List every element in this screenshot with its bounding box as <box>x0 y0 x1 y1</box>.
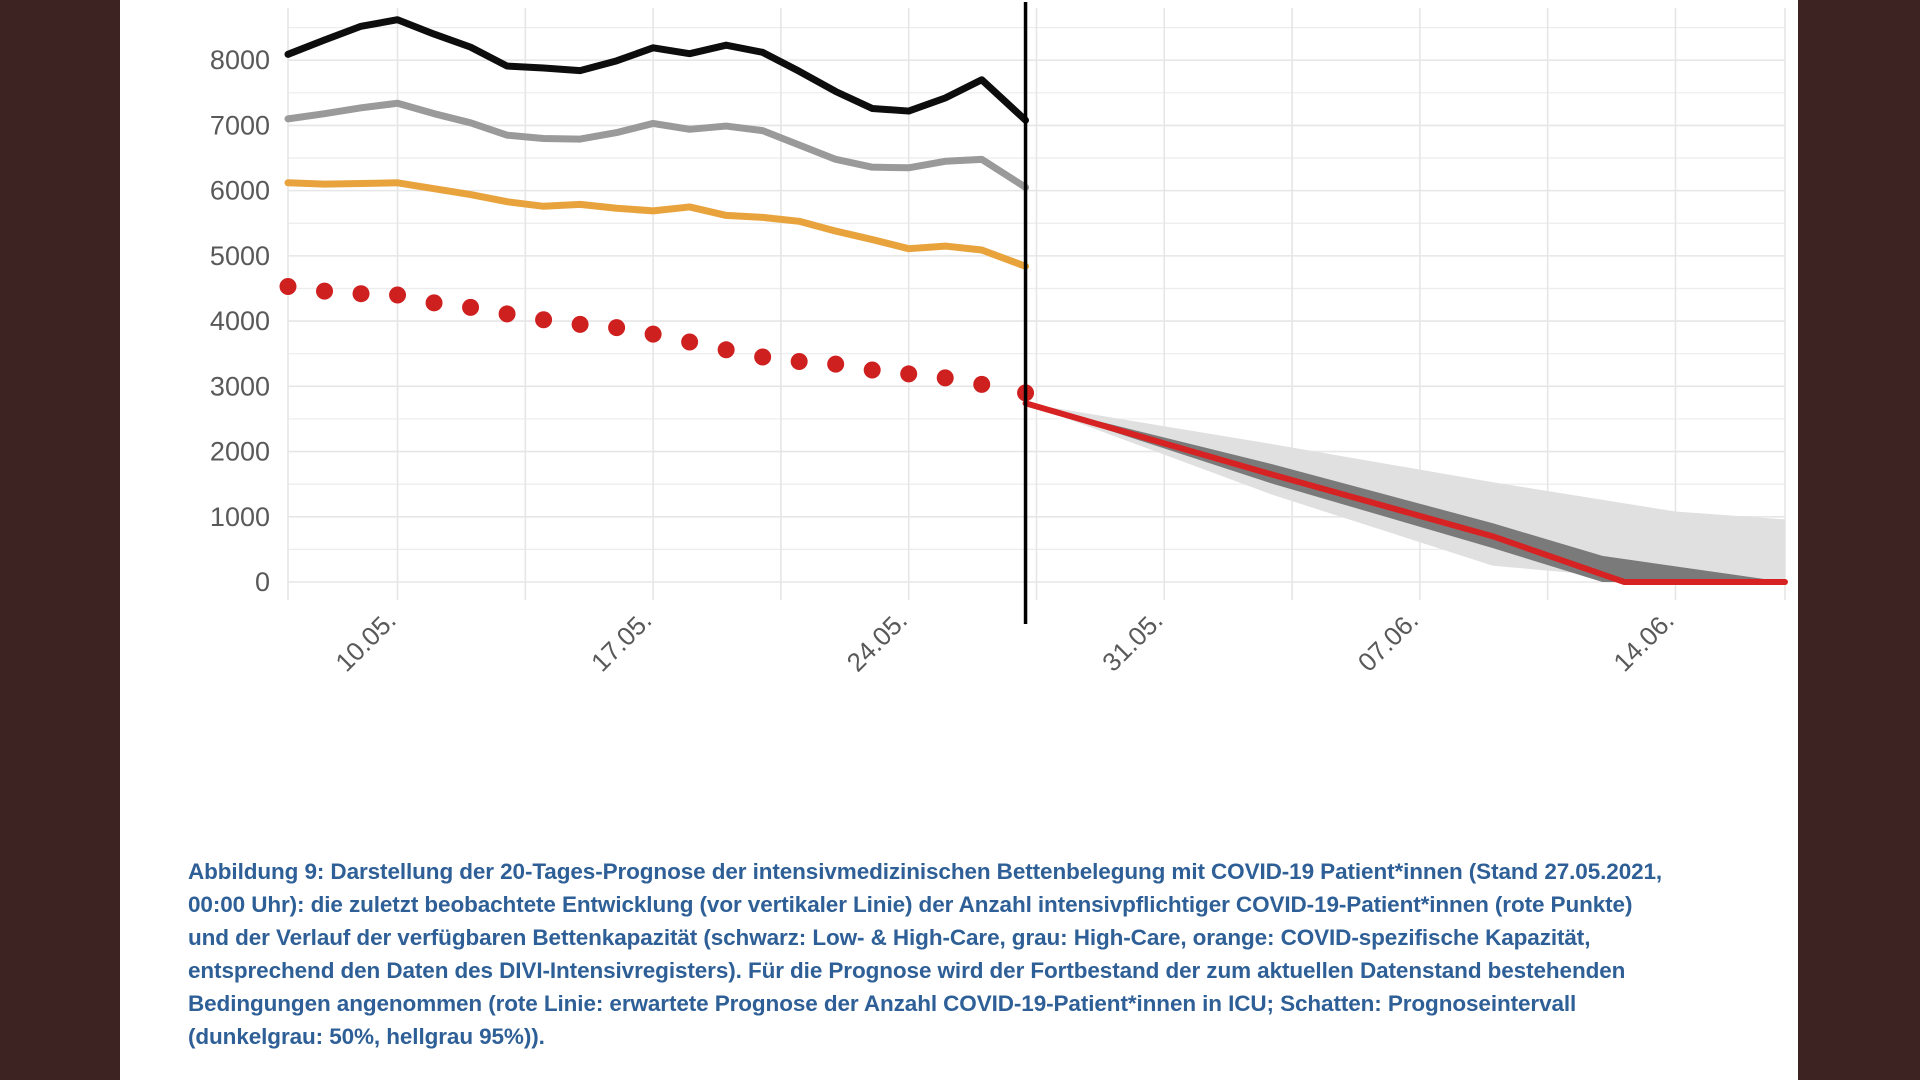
observed-data-point <box>718 341 735 358</box>
y-tick-label: 0 <box>255 567 270 597</box>
observed-data-point <box>900 365 917 382</box>
observed-data-point <box>426 294 443 311</box>
caption-line: (dunkelgrau: 50%, hellgrau 95%)). <box>188 1020 1728 1053</box>
slide-root: 01000200030004000500060007000800010.05.1… <box>0 0 1920 1080</box>
observed-data-point <box>572 316 589 333</box>
series-line <box>288 103 1026 187</box>
observed-data-point <box>462 299 479 316</box>
y-tick-label: 4000 <box>210 306 270 336</box>
observed-data-point <box>973 376 990 393</box>
slide-page: 01000200030004000500060007000800010.05.1… <box>120 0 1798 1080</box>
observed-data-point <box>280 278 297 295</box>
observed-data-point <box>316 283 333 300</box>
caption-line: 00:00 Uhr): die zuletzt beobachtete Entw… <box>188 888 1728 921</box>
observed-data-point <box>353 285 370 302</box>
y-tick-label: 5000 <box>210 241 270 271</box>
x-tick-label: 07.06. <box>1352 605 1424 677</box>
observed-data-point <box>754 348 771 365</box>
chart-svg: 01000200030004000500060007000800010.05.1… <box>120 0 1798 840</box>
observed-data-point <box>535 311 552 328</box>
x-tick-label: 10.05. <box>329 605 401 677</box>
y-tick-label: 1000 <box>210 502 270 532</box>
series-line <box>288 183 1026 266</box>
caption-line: Bedingungen angenommen (rote Linie: erwa… <box>188 987 1728 1020</box>
observed-data-point <box>499 305 516 322</box>
y-tick-label: 2000 <box>210 437 270 467</box>
y-tick-label: 8000 <box>210 45 270 75</box>
observed-data-point <box>645 326 662 343</box>
caption-line: Abbildung 9: Darstellung der 20-Tages-Pr… <box>188 855 1728 888</box>
x-tick-label: 31.05. <box>1096 605 1168 677</box>
observed-data-point <box>937 369 954 386</box>
y-tick-label: 3000 <box>210 371 270 401</box>
x-axis-labels: 10.05.17.05.24.05.31.05.07.06.14.06. <box>329 605 1679 677</box>
caption-line: entsprechend den Daten des DIVI-Intensiv… <box>188 954 1728 987</box>
x-tick-label: 24.05. <box>841 605 913 677</box>
observed-data-point <box>389 287 406 304</box>
caption-line: und der Verlauf der verfügbaren Bettenka… <box>188 921 1728 954</box>
y-tick-label: 7000 <box>210 110 270 140</box>
prediction-intervals <box>1026 403 1785 582</box>
prediction-interval-95 <box>1026 403 1785 582</box>
observed-data-point <box>864 362 881 379</box>
x-tick-label: 17.05. <box>585 605 657 677</box>
x-tick-label: 14.06. <box>1607 605 1679 677</box>
y-tick-label: 6000 <box>210 176 270 206</box>
y-axis-labels: 010002000300040005000600070008000 <box>210 45 270 597</box>
observed-data-point <box>608 319 625 336</box>
forecast-chart: 01000200030004000500060007000800010.05.1… <box>120 0 1798 840</box>
observed-data-point <box>827 356 844 373</box>
observed-data-point <box>791 353 808 370</box>
figure-caption: Abbildung 9: Darstellung der 20-Tages-Pr… <box>188 855 1728 1053</box>
observed-data-point <box>681 333 698 350</box>
